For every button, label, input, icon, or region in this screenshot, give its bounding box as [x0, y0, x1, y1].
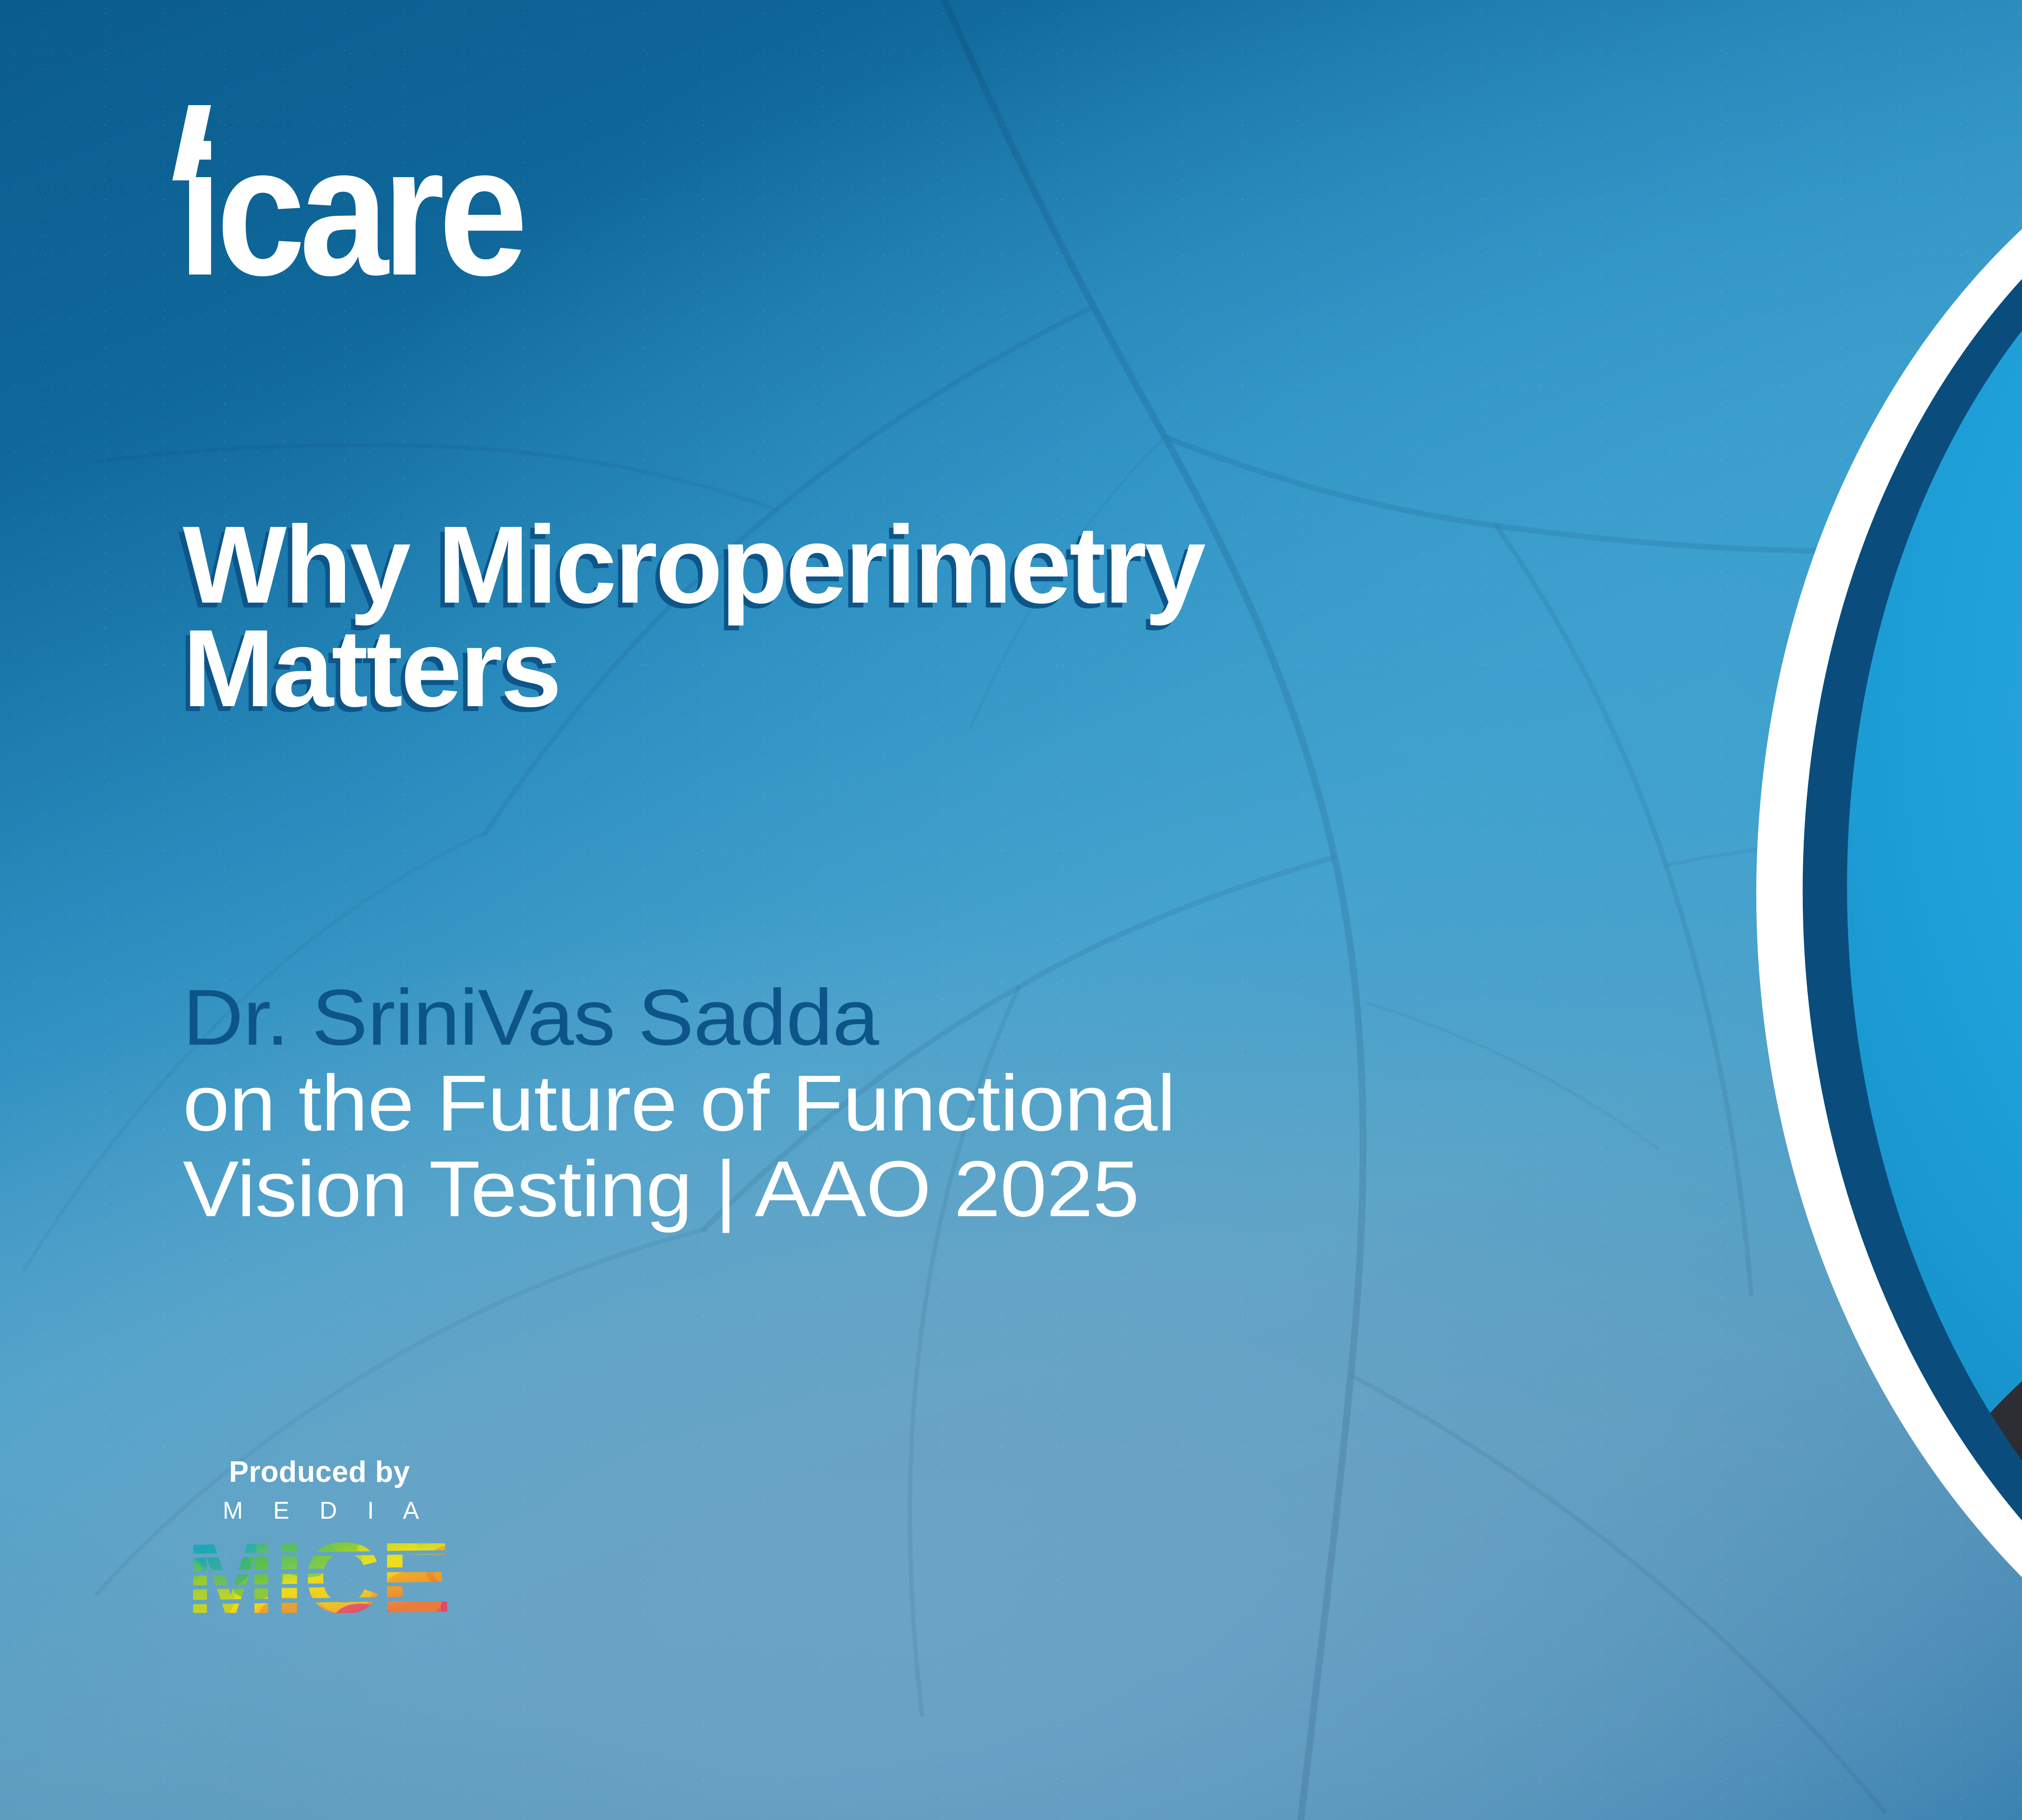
subtitle: Dr. SriniVas Sadda on the Future of Func…: [183, 975, 1881, 1232]
headline: Why Microperimetry Matters: [183, 513, 1881, 720]
icare-logo-text: icare: [178, 119, 522, 303]
icare-logo[interactable]: icare: [178, 108, 744, 298]
subtitle-line-3: Vision Testing | AAO 2025: [183, 1146, 1983, 1232]
media-wordmark: M E D I A: [145, 1497, 509, 1524]
headline-line-1: Why Microperimetry: [183, 513, 1881, 616]
mice-wordmark: MICE: [186, 1529, 582, 1630]
subtitle-line-2: on the Future of Functional: [183, 1060, 1983, 1146]
speaker-name: Dr. SriniVas Sadda: [183, 975, 1983, 1060]
promo-banner: icare Why Microperimetry Matters Dr. Sri…: [0, 0, 2022, 1820]
producer-logo[interactable]: Produced by M E D I A: [190, 1456, 594, 1630]
speaker-portrait: [1747, 44, 2022, 1792]
headline-line-2: Matters: [183, 616, 1881, 720]
produced-by-label: Produced by: [137, 1456, 501, 1488]
